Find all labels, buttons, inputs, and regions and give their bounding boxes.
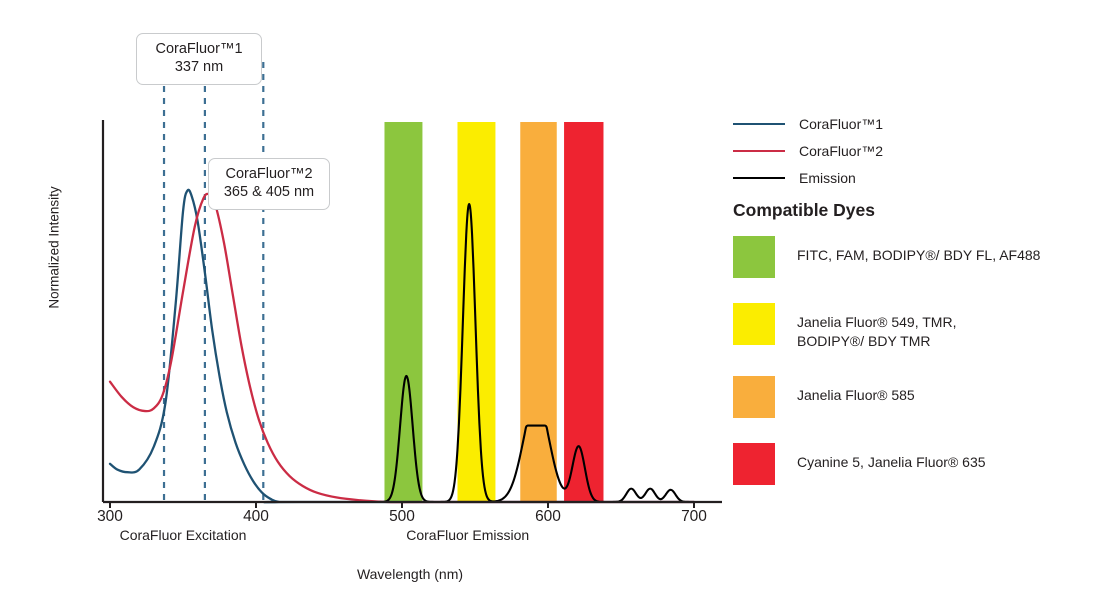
dye-label: Janelia Fluor® 549, TMR,BODIPY®/ BDY TMR: [797, 303, 956, 351]
x-tick-label: 400: [226, 508, 286, 526]
legend-item-label: CoraFluor™2: [799, 143, 883, 159]
x-tick-label: 700: [664, 508, 724, 526]
compatible-dyes-heading: Compatible Dyes: [733, 200, 875, 221]
x-tick-label: 500: [372, 508, 432, 526]
dye-list-item: Janelia Fluor® 549, TMR,BODIPY®/ BDY TMR: [733, 303, 1103, 351]
x-tick-label: 600: [518, 508, 578, 526]
dye-color-swatch: [733, 443, 775, 485]
x-axis-title: Wavelength (nm): [300, 566, 520, 582]
x-tick-label: 300: [80, 508, 140, 526]
dye-color-swatch: [733, 376, 775, 418]
callout-2-line1: CoraFluor™2: [225, 166, 312, 182]
callout-corafluor-1: CoraFluor™1 337 nm: [136, 33, 262, 85]
region-label: CoraFluor Emission: [358, 527, 578, 543]
marker-line-group: [164, 62, 263, 502]
region-label: CoraFluor Excitation: [73, 527, 293, 543]
callout-2-line2: 365 & 405 nm: [221, 184, 317, 202]
dye-label: Janelia Fluor® 585: [797, 376, 915, 405]
dye-list-item: Cyanine 5, Janelia Fluor® 635: [733, 443, 1103, 485]
dye-color-swatch: [733, 303, 775, 345]
legend-item: CoraFluor™2: [733, 137, 1093, 164]
legend-item: CoraFluor™1: [733, 110, 1093, 137]
dye-band: [384, 122, 422, 502]
dye-label: FITC, FAM, BODIPY®/ BDY FL, AF488: [797, 236, 1040, 265]
dye-label: Cyanine 5, Janelia Fluor® 635: [797, 443, 986, 472]
legend-line-swatch: [733, 150, 785, 152]
chart-figure: Normalized Intensity CoraFluor™1 337 nm …: [0, 0, 1110, 612]
series-legend: CoraFluor™1CoraFluor™2Emission: [733, 110, 1093, 191]
dye-color-swatch: [733, 236, 775, 278]
legend-line-swatch: [733, 123, 785, 125]
dye-list-item: Janelia Fluor® 585: [733, 376, 1103, 418]
dye-label-line2: BODIPY®/ BDY TMR: [797, 333, 931, 349]
legend-line-swatch: [733, 177, 785, 179]
callout-corafluor-2: CoraFluor™2 365 & 405 nm: [208, 158, 330, 210]
compatible-dyes-list: FITC, FAM, BODIPY®/ BDY FL, AF488Janelia…: [733, 236, 1103, 510]
band-group: [384, 122, 603, 502]
legend-item: Emission: [733, 164, 1093, 191]
callout-1-line1: CoraFluor™1: [155, 41, 242, 57]
legend-item-label: CoraFluor™1: [799, 116, 883, 132]
y-axis-label: Normalized Intensity: [47, 158, 62, 338]
dye-list-item: FITC, FAM, BODIPY®/ BDY FL, AF488: [733, 236, 1103, 278]
callout-1-line2: 337 nm: [149, 59, 249, 77]
legend-item-label: Emission: [799, 170, 856, 186]
dye-band: [564, 122, 603, 502]
